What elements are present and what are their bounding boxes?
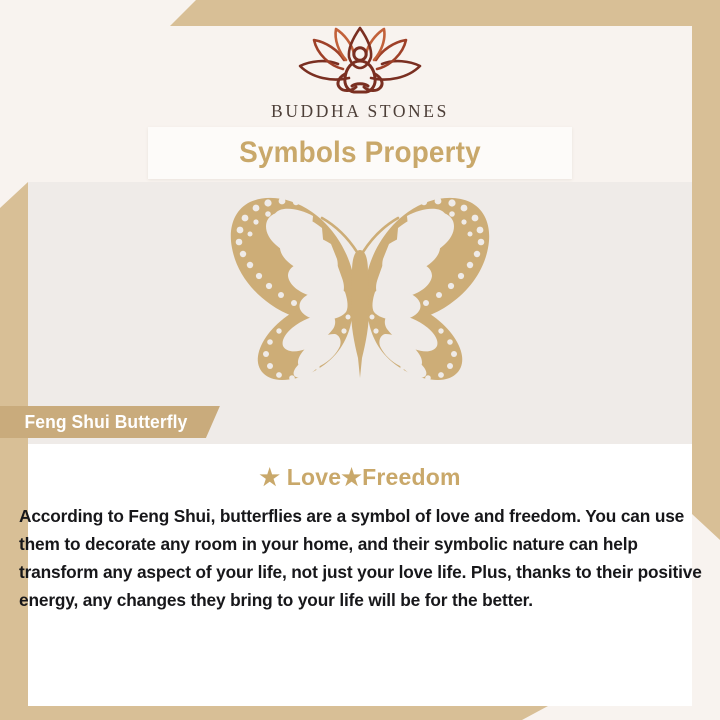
symbol-tag-label: Feng Shui Butterfly [25,412,188,433]
symbol-tag: Feng Shui Butterfly [0,406,220,438]
frame-border-bottom [0,706,548,720]
infographic-page: BUDDHA STONES Symbols Property [0,0,720,720]
butterfly-icon [200,192,520,392]
brand-wordmark: BUDDHA STONES [0,101,720,122]
description-panel: ★ Love★Freedom According to Feng Shui, b… [28,444,692,706]
description-body: According to Feng Shui, butterflies are … [19,502,707,614]
title-banner: Symbols Property [148,127,572,179]
description-heading: ★ Love★Freedom [28,464,692,491]
frame-border-left [0,182,28,710]
frame-border-top [170,0,720,26]
page-title: Symbols Property [239,136,481,170]
lotus-meditation-icon [286,26,434,98]
brand-logo: BUDDHA STONES [0,26,720,122]
symbol-illustration-panel [28,182,692,444]
